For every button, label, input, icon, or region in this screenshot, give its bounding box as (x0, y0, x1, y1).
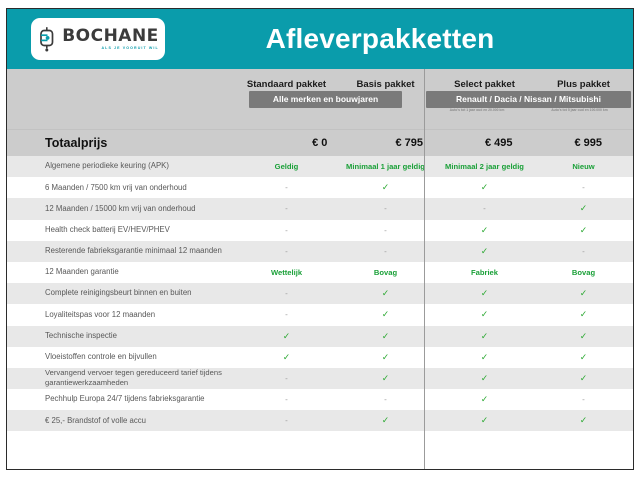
cell-standaard: - (237, 395, 336, 404)
table-row: Pechhulp Europa 24/7 tijdens fabrieksgar… (7, 389, 633, 410)
table-row: Loyaliteitspas voor 12 maanden-✓✓✓ (7, 304, 633, 325)
check-icon: ✓ (382, 415, 390, 425)
feature-label: Pechhulp Europa 24/7 tijdens fabrieksgar… (7, 394, 237, 405)
dash-icon: - (285, 310, 288, 319)
feature-label: Vloeistoffen controle en bijvullen (7, 352, 237, 363)
total-price-row: Totaalprijs € 0 € 795 € 495 € 995 (7, 129, 633, 156)
check-icon: ✓ (580, 352, 588, 362)
check-icon: ✓ (382, 331, 390, 341)
column-header-band: Standaard pakket Basis pakket Select pak… (7, 69, 633, 129)
cell-standaard: Geldig (237, 162, 336, 171)
dash-icon: - (285, 416, 288, 425)
dash-icon: - (285, 374, 288, 383)
check-icon: ✓ (283, 352, 291, 362)
dash-icon: - (285, 183, 288, 192)
cell-plus: - (534, 183, 633, 192)
check-icon: ✓ (580, 225, 588, 235)
total-price-standaard: € 0 (275, 137, 365, 149)
total-price-label: Totaalprijs (7, 136, 275, 150)
table-row: € 25,- Brandstof of volle accu-✓✓✓ (7, 410, 633, 431)
dash-icon: - (384, 395, 387, 404)
dash-icon: - (384, 247, 387, 256)
table-row: Vloeistoffen controle en bijvullen✓✓✓✓ (7, 347, 633, 368)
table-row: Algemene periodieke keuring (APK)GeldigM… (7, 156, 633, 177)
dash-icon: - (483, 204, 486, 213)
check-icon: ✓ (481, 225, 489, 235)
check-icon: ✓ (283, 331, 291, 341)
check-icon: ✓ (580, 309, 588, 319)
dash-icon: - (285, 204, 288, 213)
feature-label: 12 Maanden garantie (7, 267, 237, 278)
cell-basis: Bovag (336, 268, 435, 277)
package-group-divider (424, 69, 425, 469)
table-row: 6 Maanden / 7500 km vrij van onderhoud-✓… (7, 177, 633, 198)
dash-icon: - (582, 247, 585, 256)
check-icon: ✓ (382, 288, 390, 298)
check-icon: ✓ (481, 394, 489, 404)
cell-basis: ✓ (336, 373, 435, 384)
feature-label: € 25,- Brandstof of volle accu (7, 416, 237, 427)
cell-basis: - (336, 226, 435, 235)
cell-select: ✓ (435, 246, 534, 257)
feature-label: 6 Maanden / 7500 km vrij van onderhoud (7, 183, 237, 194)
package-header-standaard: Standaard pakket (237, 74, 336, 92)
cell-standaard: - (237, 204, 336, 213)
dash-icon: - (384, 226, 387, 235)
feature-label: Technische inspectie (7, 331, 237, 342)
cell-select: ✓ (435, 352, 534, 363)
cell-plus: ✓ (534, 309, 633, 320)
check-icon: ✓ (481, 288, 489, 298)
feature-label: Loyaliteitspas voor 12 maanden (7, 310, 237, 321)
table-row: Resterende fabrieksgarantie minimaal 12 … (7, 241, 633, 262)
cell-select: ✓ (435, 331, 534, 342)
dash-icon: - (384, 204, 387, 213)
cell-plus: ✓ (534, 331, 633, 342)
cell-plus: ✓ (534, 352, 633, 363)
feature-label: Health check batterij EV/HEV/PHEV (7, 225, 237, 236)
cell-select: - (435, 204, 534, 213)
cell-select: ✓ (435, 415, 534, 426)
check-icon: ✓ (382, 182, 390, 192)
table-row: Health check batterij EV/HEV/PHEV--✓✓ (7, 220, 633, 241)
total-price-select: € 495 (454, 137, 544, 149)
dash-icon: - (285, 395, 288, 404)
package-header-plus: Plus pakket (534, 74, 633, 92)
check-icon: ✓ (382, 373, 390, 383)
cell-standaard: - (237, 416, 336, 425)
cell-standaard: ✓ (237, 352, 336, 363)
dash-icon: - (285, 247, 288, 256)
cell-plus: ✓ (534, 225, 633, 236)
dash-icon: - (285, 226, 288, 235)
feature-label: 12 Maanden / 15000 km vrij van onderhoud (7, 204, 237, 215)
check-icon: ✓ (481, 352, 489, 362)
check-icon: ✓ (580, 415, 588, 425)
table-row: 12 Maanden / 15000 km vrij van onderhoud… (7, 198, 633, 219)
table-row: Complete reinigingsbeurt binnen en buite… (7, 283, 633, 304)
feature-label: Complete reinigingsbeurt binnen en buite… (7, 288, 237, 299)
check-icon: ✓ (481, 373, 489, 383)
dash-icon: - (582, 395, 585, 404)
check-icon: ✓ (382, 309, 390, 319)
cell-basis: - (336, 395, 435, 404)
subnote-plus: Auto's tot 5 jaar oud en 100.000 km (527, 108, 632, 112)
cell-select: Fabriek (435, 268, 534, 277)
page-title-text: Afleverpakketten (266, 23, 495, 55)
brand-logo[interactable]: BOCHANE ALS JE VOORUIT WIL (31, 18, 165, 60)
cell-plus: Bovag (534, 268, 633, 277)
dash-icon: - (285, 289, 288, 298)
subnote-select: Auto's tot 1 jaar oud en 20.000 km (427, 108, 527, 112)
cell-basis: Minimaal 1 jaar geldig (336, 162, 435, 171)
cell-basis: ✓ (336, 352, 435, 363)
package-header-select: Select pakket (435, 74, 534, 92)
cell-basis: ✓ (336, 415, 435, 426)
cell-plus: - (534, 395, 633, 404)
badge-merken-renault-dacia-nissan-mitsubishi: Renault / Dacia / Nissan / Mitsubishi (426, 91, 631, 108)
cell-plus: - (534, 247, 633, 256)
cell-plus: ✓ (534, 203, 633, 214)
feature-label: Vervangend vervoer tegen gereduceerd tar… (7, 368, 237, 389)
feature-label: Algemene periodieke keuring (APK) (7, 161, 237, 172)
cell-basis: - (336, 247, 435, 256)
total-price-plus: € 995 (544, 137, 634, 149)
cell-select: ✓ (435, 288, 534, 299)
cell-standaard: Wettelijk (237, 268, 336, 277)
total-price-basis: € 795 (365, 137, 455, 149)
cell-basis: ✓ (336, 309, 435, 320)
cell-basis: ✓ (336, 331, 435, 342)
check-icon: ✓ (580, 288, 588, 298)
cell-select: Minimaal 2 jaar geldig (435, 162, 534, 171)
cell-standaard: - (237, 310, 336, 319)
charging-plug-icon (37, 26, 57, 52)
check-icon: ✓ (580, 373, 588, 383)
cell-plus: ✓ (534, 415, 633, 426)
check-icon: ✓ (382, 352, 390, 362)
cell-basis: ✓ (336, 288, 435, 299)
cell-standaard: - (237, 289, 336, 298)
brand-tagline: ALS JE VOORUIT WIL (101, 47, 158, 51)
cell-standaard: - (237, 374, 336, 383)
check-icon: ✓ (580, 203, 588, 213)
brand-name: BOCHANE (62, 28, 159, 45)
cell-select: ✓ (435, 225, 534, 236)
cell-select: ✓ (435, 309, 534, 320)
check-icon: ✓ (481, 182, 489, 192)
page-header: BOCHANE ALS JE VOORUIT WIL Afleverpakket… (7, 9, 633, 69)
cell-standaard: - (237, 183, 336, 192)
feature-table: Algemene periodieke keuring (APK)GeldigM… (7, 156, 633, 431)
table-row: 12 Maanden garantieWettelijkBovagFabriek… (7, 262, 633, 283)
cell-plus: ✓ (534, 288, 633, 299)
cell-basis: ✓ (336, 182, 435, 193)
comparison-sheet: BOCHANE ALS JE VOORUIT WIL Afleverpakket… (6, 8, 634, 470)
badge-alle-merken: Alle merken en bouwjaren (249, 91, 402, 108)
table-row: Technische inspectie✓✓✓✓ (7, 326, 633, 347)
check-icon: ✓ (481, 246, 489, 256)
check-icon: ✓ (481, 331, 489, 341)
cell-standaard: ✓ (237, 331, 336, 342)
cell-select: ✓ (435, 373, 534, 384)
page-root: BOCHANE ALS JE VOORUIT WIL Afleverpakket… (0, 0, 640, 480)
check-icon: ✓ (481, 415, 489, 425)
cell-plus: Nieuw (534, 162, 633, 171)
feature-label: Resterende fabrieksgarantie minimaal 12 … (7, 246, 237, 257)
package-header-basis: Basis pakket (336, 74, 435, 92)
cell-basis: - (336, 204, 435, 213)
check-icon: ✓ (481, 309, 489, 319)
cell-select: ✓ (435, 182, 534, 193)
cell-plus: ✓ (534, 373, 633, 384)
cell-standaard: - (237, 226, 336, 235)
cell-select: ✓ (435, 394, 534, 405)
dash-icon: - (582, 183, 585, 192)
table-row: Vervangend vervoer tegen gereduceerd tar… (7, 368, 633, 389)
cell-standaard: - (237, 247, 336, 256)
check-icon: ✓ (580, 331, 588, 341)
